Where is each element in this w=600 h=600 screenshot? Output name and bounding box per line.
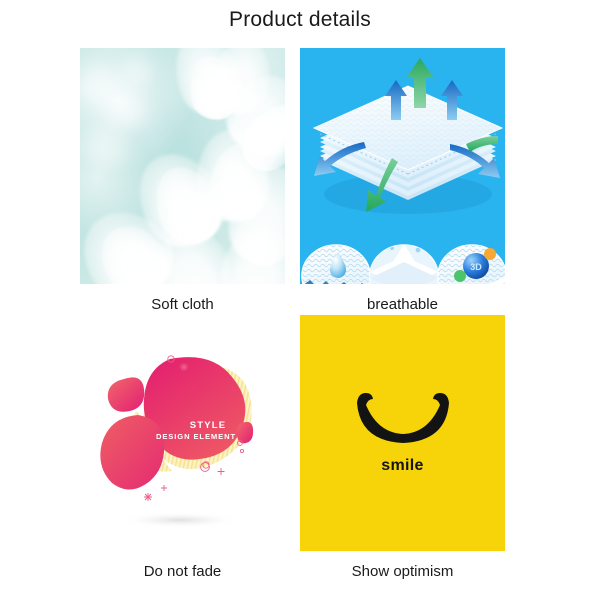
smile-word: smile [300, 457, 505, 475]
image-soft-cloth[interactable] [80, 48, 285, 284]
caption-soft-cloth: Soft cloth [80, 295, 285, 315]
smile-curve [357, 393, 449, 443]
product-detail-grid: Soft cloth [80, 48, 520, 590]
small-blob-left [108, 377, 144, 411]
fluid-blob-illustration: STYLE DESIGN ELEMENT [80, 315, 285, 551]
caption-breathable: breathable [300, 295, 505, 315]
breathability-diagram: 3D [300, 48, 505, 284]
caption-show-optimism: Show optimism [300, 562, 505, 582]
page-title: Product details [0, 8, 600, 32]
image-do-not-fade[interactable]: STYLE DESIGN ELEMENT [80, 315, 285, 551]
blob-text-design-element: DESIGN ELEMENT [156, 432, 236, 441]
product-detail-cell-show-optimism[interactable]: smile Show optimism [300, 315, 505, 582]
product-detail-cell-do-not-fade[interactable]: STYLE DESIGN ELEMENT Do not fade [80, 315, 285, 582]
product-detail-cell-soft-cloth[interactable]: Soft cloth [80, 48, 285, 315]
image-breathable[interactable]: 3D [300, 48, 505, 284]
blob-text-style: STYLE [190, 420, 227, 431]
svg-text:3D: 3D [470, 262, 482, 272]
detail-circle-three-d-ball: 3D [438, 245, 505, 284]
small-blob-right [237, 422, 253, 443]
image-show-optimism[interactable]: smile [300, 315, 505, 551]
caption-do-not-fade: Do not fade [80, 562, 285, 582]
lower-left-blob [100, 415, 164, 490]
product-detail-cell-breathable[interactable]: 3D breathable [300, 48, 505, 315]
smile-illustration [300, 315, 505, 551]
detail-circle-absorb-layer [370, 240, 438, 284]
detail-circle-water-drop [302, 245, 370, 284]
